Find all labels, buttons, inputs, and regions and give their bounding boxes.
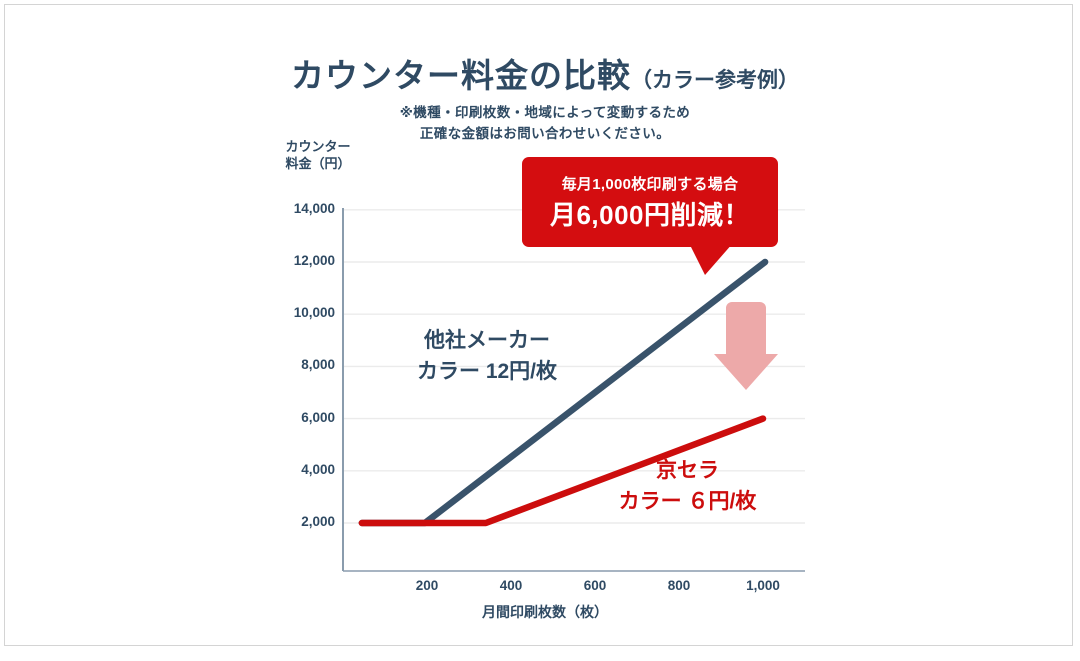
savings-callout: 毎月1,000枚印刷する場合 月6,000円削減！	[522, 157, 778, 247]
y-tick-label: 10,000	[265, 305, 335, 320]
callout-tail-icon	[689, 243, 735, 277]
x-tick-label: 200	[397, 578, 457, 593]
kyocera-label-line-2: カラー ６円/枚	[580, 486, 795, 517]
y-tick-label: 8,000	[265, 357, 335, 372]
kyocera-label: 京セラ カラー ６円/枚	[580, 455, 795, 517]
y-tick-label: 12,000	[265, 253, 335, 268]
y-tick-label: 2,000	[265, 514, 335, 529]
y-tick-label: 6,000	[265, 410, 335, 425]
x-tick-label: 600	[565, 578, 625, 593]
other-maker-label-line-1: 他社メーカー	[377, 325, 597, 356]
callout-line-2: 月6,000円削減！	[550, 195, 750, 232]
x-tick-label: 1,000	[733, 578, 793, 593]
other-maker-label: 他社メーカー カラー 12円/枚	[377, 325, 597, 387]
y-tick-label: 4,000	[265, 462, 335, 477]
callout-line-1: 毎月1,000枚印刷する場合	[562, 173, 739, 194]
other-maker-label-line-2: カラー 12円/枚	[377, 356, 597, 387]
kyocera-label-line-1: 京セラ	[580, 455, 795, 486]
y-tick-label: 14,000	[265, 201, 335, 216]
x-tick-label: 400	[481, 578, 541, 593]
savings-arrow-icon	[710, 298, 782, 394]
x-tick-label: 800	[649, 578, 709, 593]
chart-card: カウンター料金の比較（カラー参考例） ※機種・印刷枚数・地域によって変動するため…	[4, 4, 1073, 646]
